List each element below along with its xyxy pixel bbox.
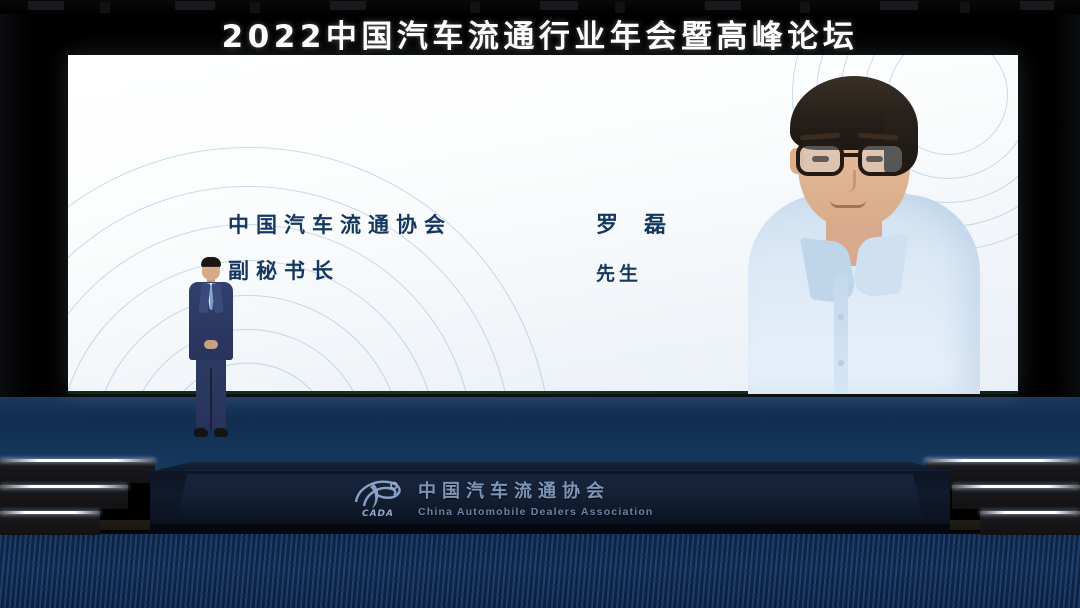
speaker-role: 副秘书长 (228, 261, 452, 282)
svg-text:CADA: CADA (362, 509, 394, 518)
presenter-hands (204, 340, 218, 349)
wall-panel-left (0, 14, 72, 400)
podium-branding: CADA 中国汽车流通协会 China Automobile Dealers A… (350, 476, 654, 518)
event-title-band: 2022中国汽车流通行业年会暨高峰论坛 (0, 10, 1080, 56)
standing-presenter-icon (183, 258, 239, 440)
portrait-button (838, 314, 844, 320)
truss-light-icon (175, 1, 215, 10)
speaker-name: 罗 磊 (596, 215, 668, 237)
cada-swoosh-logo-icon: CADA (350, 476, 406, 518)
truss-light-icon (880, 1, 918, 10)
riser-base (150, 524, 950, 534)
speaker-organization: 中国汽车流通协会 (228, 215, 452, 236)
portrait-button (838, 360, 844, 366)
event-title: 2022中国汽车流通行业年会暨高峰论坛 (222, 11, 859, 56)
speaker-affiliation-block: 中国汽车流通协会 副秘书长 (228, 215, 452, 282)
portrait-nose (842, 170, 856, 192)
truss-light-icon (1020, 1, 1054, 10)
stage-riser: CADA 中国汽车流通协会 China Automobile Dealers A… (150, 462, 950, 534)
speaker-name-block: 罗 磊 先生 (596, 215, 668, 284)
presenter-glasses-icon (202, 266, 220, 271)
wall-panel-right (1020, 14, 1080, 400)
podium-org-name-cn: 中国汽车流通协会 (418, 477, 654, 503)
presenter-leg-split (210, 368, 212, 430)
foreground-carpet (0, 534, 1080, 608)
truss-light-icon (28, 1, 64, 10)
stage-scene: 2022中国汽车流通行业年会暨高峰论坛 中国汽车流通协会 副秘书长 (0, 0, 1080, 608)
stage-deck-sheen (0, 397, 1080, 419)
portrait-placket (834, 274, 848, 394)
presenter-shoe (194, 428, 208, 437)
truss-light-icon (540, 1, 578, 10)
truss-light-icon (705, 1, 741, 10)
truss-light-icon (330, 1, 366, 10)
podium-org-name-en: China Automobile Dealers Association (418, 506, 654, 518)
portrait-mouth (830, 200, 866, 208)
speaker-honorific: 先生 (596, 265, 668, 284)
speaker-portrait-icon (738, 64, 988, 394)
presenter-shoe (214, 428, 228, 437)
